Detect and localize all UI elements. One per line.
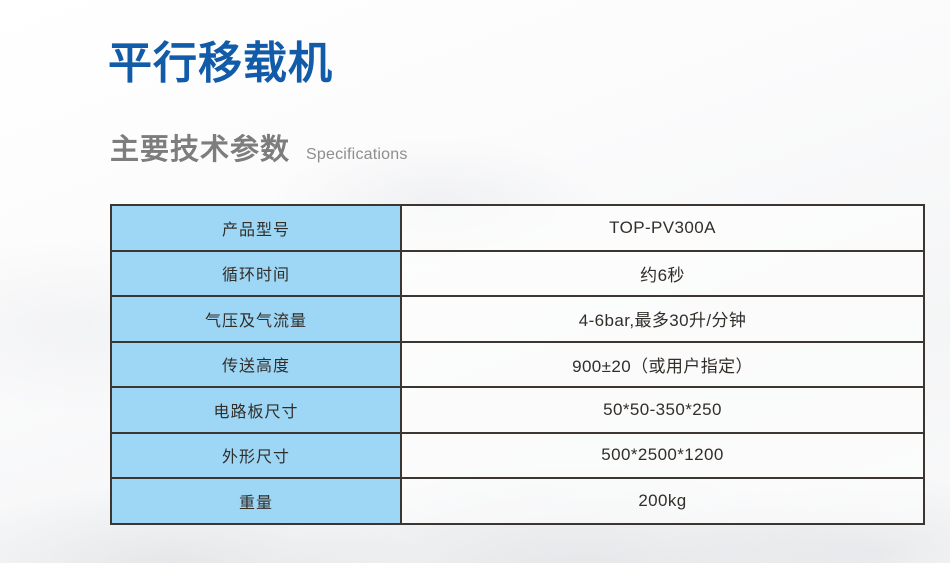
spec-label: 气压及气流量 xyxy=(111,296,401,342)
table-row: 电路板尺寸 50*50-350*250 xyxy=(111,387,924,433)
spec-value: 200kg xyxy=(401,478,924,524)
section-title-english: Specifications xyxy=(306,146,408,164)
table-row: 外形尺寸 500*2500*1200 xyxy=(111,433,924,479)
section-title-chinese: 主要技术参数 xyxy=(110,126,290,168)
spec-label: 外形尺寸 xyxy=(111,433,401,479)
spec-value: 4-6bar,最多30升/分钟 xyxy=(401,296,924,342)
spec-value: 500*2500*1200 xyxy=(401,433,924,479)
table-row: 循环时间 约6秒 xyxy=(111,251,924,297)
section-heading: 主要技术参数 Specifications xyxy=(110,126,408,168)
specifications-table: 产品型号 TOP-PV300A 循环时间 约6秒 气压及气流量 4-6bar,最… xyxy=(110,204,925,525)
table-row: 产品型号 TOP-PV300A xyxy=(111,205,924,251)
table-row: 重量 200kg xyxy=(111,478,924,524)
table-row: 气压及气流量 4-6bar,最多30升/分钟 xyxy=(111,296,924,342)
spec-label: 重量 xyxy=(111,478,401,524)
spec-sheet-page: 平行移载机 主要技术参数 Specifications 产品型号 TOP-PV3… xyxy=(0,0,950,563)
spec-value: TOP-PV300A xyxy=(401,205,924,251)
table-row: 传送高度 900±20（或用户指定） xyxy=(111,342,924,388)
spec-label: 电路板尺寸 xyxy=(111,387,401,433)
specifications-table-body: 产品型号 TOP-PV300A 循环时间 约6秒 气压及气流量 4-6bar,最… xyxy=(111,205,924,524)
spec-label: 产品型号 xyxy=(111,205,401,251)
spec-label: 传送高度 xyxy=(111,342,401,388)
spec-value: 50*50-350*250 xyxy=(401,387,924,433)
spec-label: 循环时间 xyxy=(111,251,401,297)
page-title: 平行移载机 xyxy=(108,38,333,90)
spec-value: 900±20（或用户指定） xyxy=(401,342,924,388)
spec-value: 约6秒 xyxy=(401,251,924,297)
